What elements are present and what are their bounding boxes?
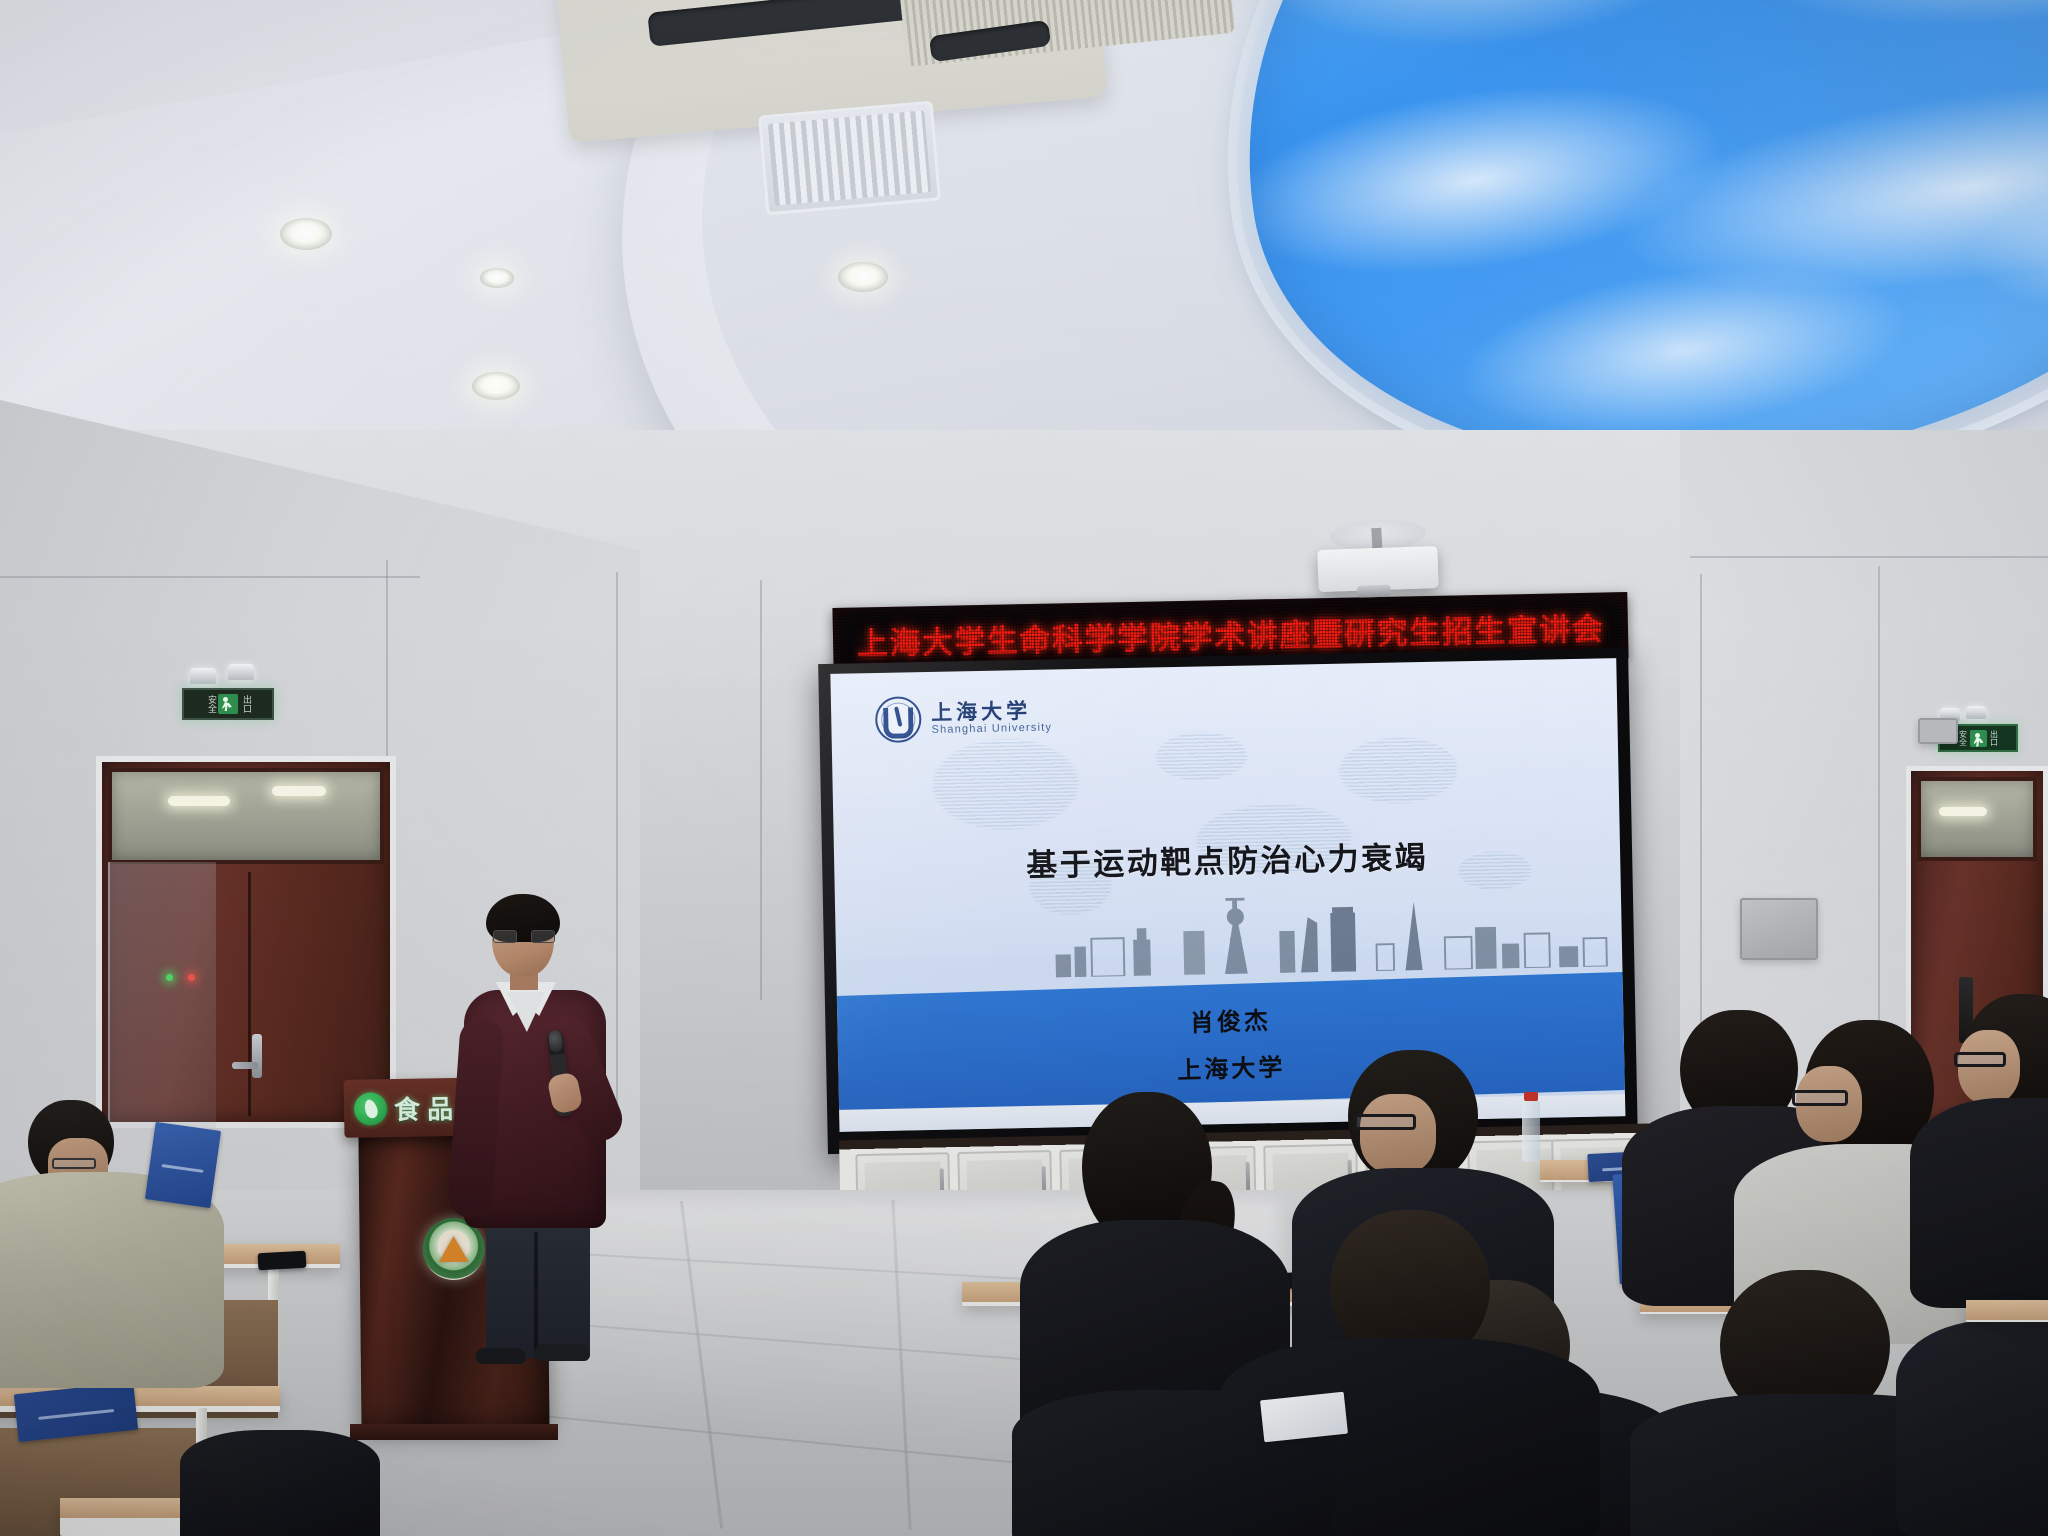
emergency-lamp-left-b: [228, 664, 254, 680]
wall-seam-3: [760, 580, 762, 1000]
lecture-hall-door-left[interactable]: [96, 756, 396, 1128]
booklet-held[interactable]: [145, 1122, 221, 1208]
door-transom-left: [108, 768, 384, 864]
phone-on-desk[interactable]: [258, 1251, 307, 1270]
emergency-lamp-right-b: [1966, 706, 1986, 719]
door-leaf-split-left: [248, 872, 251, 1116]
emblem-ring: [881, 702, 916, 737]
transom-light-right: [1939, 807, 1987, 816]
wall-small-box: [1918, 718, 1958, 744]
ceiling-mounted-projector: [1317, 546, 1438, 592]
ceiling-air-vent: [758, 101, 941, 216]
slide-university-logo: 上海大学 Shanghai University: [875, 694, 1053, 744]
vent-slats: [768, 110, 932, 205]
lecture-hall-photo: 安全 出口 安全 出口 上海大学生: [0, 0, 2048, 1536]
glass-partition-reflection: [108, 862, 216, 1128]
audience-face: [1360, 1094, 1436, 1174]
audience-member-right-c: [1944, 994, 2048, 1294]
university-name-cn: 上海大学: [931, 700, 1052, 723]
podium-base: [350, 1424, 558, 1440]
exit-sign-left: 安全 出口: [182, 688, 274, 720]
running-person-icon: [218, 694, 238, 714]
door-lever-left[interactable]: [232, 1062, 258, 1069]
door-handle-left[interactable]: [252, 1034, 262, 1078]
exit-sign-left-text-b: 出口: [241, 695, 250, 713]
wall-seam-h1: [0, 576, 420, 578]
shanghai-university-emblem-icon: [875, 696, 922, 743]
door-transom-right: [1917, 777, 2037, 861]
audience-glasses: [1954, 1052, 2006, 1067]
university-name-block: 上海大学 Shanghai University: [931, 700, 1052, 735]
exit-sign-right-text-a: 安全: [1959, 730, 1967, 746]
wall-seam-h2: [1690, 556, 2048, 558]
student-desk: [1966, 1300, 2048, 1322]
presenter-glasses: [493, 930, 555, 943]
presenter: [452, 878, 632, 1356]
glasses-lens-left: [493, 930, 517, 943]
presenter-legs: [486, 1214, 590, 1358]
bottle-cap: [1524, 1092, 1538, 1101]
transom-light-a: [168, 796, 230, 806]
slide-speaker-affiliation: 上海大学: [1177, 1047, 1286, 1085]
water-bottle[interactable]: [1522, 1100, 1540, 1162]
audience-face: [1958, 1030, 2020, 1104]
shanghai-skyline-graphic: [1045, 890, 1616, 977]
audience-glasses: [1354, 1114, 1416, 1130]
slide-speaker-name: 肖俊杰: [1190, 1001, 1272, 1038]
downlight-6: [480, 268, 514, 288]
downlight-5: [838, 262, 888, 292]
glasses-lens-right: [531, 930, 555, 943]
presenter-shoe-left: [476, 1348, 526, 1364]
audience-coat: [1896, 1320, 2048, 1536]
paper-held[interactable]: [1260, 1392, 1348, 1443]
transom-light-b: [272, 786, 326, 796]
exit-sign-right-text-b: 出口: [1990, 730, 1998, 746]
presenter-shoe-right: [534, 1344, 590, 1361]
downlight-2: [472, 372, 520, 400]
audience-member-right-e: [1896, 1320, 2048, 1536]
food-science-college-logo-icon: [354, 1092, 388, 1126]
audience-coat: [180, 1430, 380, 1536]
audience-member-bottom-left: [180, 1430, 370, 1536]
desk-surface: [1966, 1300, 2048, 1320]
projector-lens: [1357, 585, 1391, 598]
running-person-icon-right: [1970, 730, 1987, 747]
emergency-lamp-left-a: [190, 668, 216, 684]
exit-sign-left-text-a: 安全: [206, 695, 215, 713]
university-name-en: Shanghai University: [931, 722, 1052, 735]
downlight-1: [280, 218, 332, 250]
audience-glasses: [1792, 1090, 1848, 1106]
wall-control-box[interactable]: [1740, 898, 1818, 960]
audience-glasses: [52, 1158, 96, 1169]
